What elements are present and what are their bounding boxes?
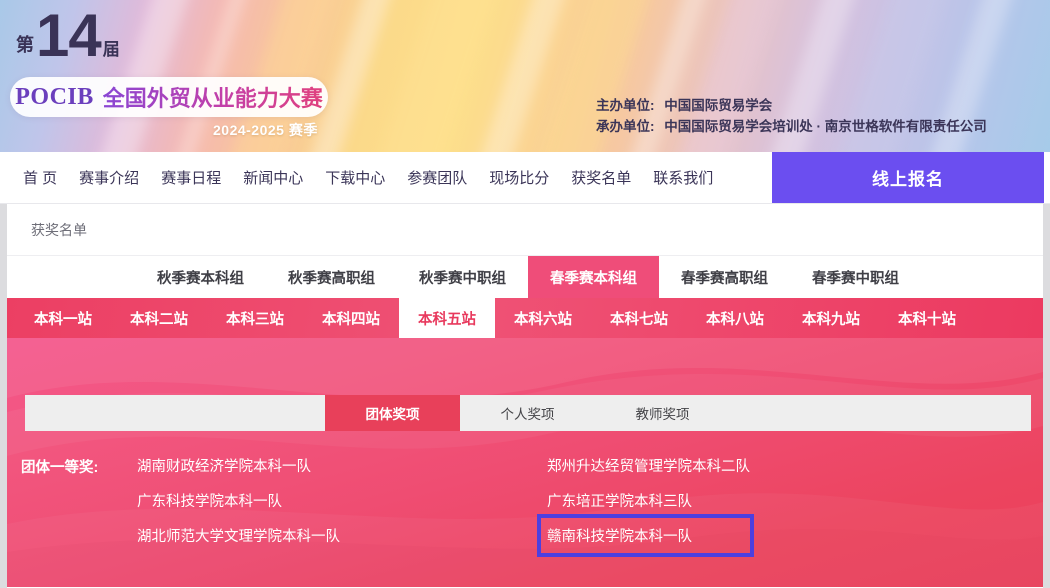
- winner-item-highlighted[interactable]: 赣南科技学院本科一队: [541, 518, 750, 553]
- coorganizer-label: 承办单位:: [596, 119, 655, 134]
- winner-item[interactable]: 郑州升达经贸管理学院本科二队: [547, 448, 750, 483]
- tab-spring-secondary[interactable]: 春季赛中职组: [790, 256, 921, 298]
- coorganizer-value: 中国国际贸易学会培训处 · 南京世格软件有限责任公司: [664, 119, 987, 134]
- award-category-tab-bar: 团体奖项 个人奖项 教师奖项: [25, 395, 1031, 431]
- organizer-row: 主办单位: 中国国际贸易学会: [596, 95, 987, 116]
- nav-item-news[interactable]: 新闻中心: [232, 167, 314, 188]
- competition-title: POCIB 全国外贸从业能力大赛: [10, 77, 328, 117]
- station-tab-5[interactable]: 本科五站: [399, 298, 495, 338]
- winner-item[interactable]: 广东培正学院本科三队: [547, 483, 750, 518]
- online-signup-button[interactable]: 线上报名: [772, 152, 1044, 203]
- title-chinese: 全国外贸从业能力大赛: [103, 81, 323, 113]
- tab-spring-undergrad[interactable]: 春季赛本科组: [528, 256, 659, 298]
- award-tab-individual[interactable]: 个人奖项: [460, 395, 595, 431]
- site-banner: 第 14 届 POCIB 全国外贸从业能力大赛 2024-2025 赛季 主办单…: [0, 0, 1050, 152]
- edition-prefix: 第: [16, 31, 34, 57]
- nav-item-winners[interactable]: 获奖名单: [560, 167, 642, 188]
- nav-item-teams[interactable]: 参赛团队: [396, 167, 478, 188]
- station-tab-7[interactable]: 本科七站: [591, 298, 687, 338]
- edition-ordinal: 第 14 届: [16, 6, 120, 66]
- host-label: 主办单位:: [596, 98, 655, 113]
- nav-item-about[interactable]: 赛事介绍: [68, 167, 150, 188]
- nav-item-downloads[interactable]: 下载中心: [314, 167, 396, 188]
- station-tab-10[interactable]: 本科十站: [879, 298, 975, 338]
- tab-autumn-secondary[interactable]: 秋季赛中职组: [397, 256, 528, 298]
- nav-item-list: 首 页 赛事介绍 赛事日程 新闻中心 下载中心 参赛团队 现场比分 获奖名单 联…: [0, 167, 724, 188]
- season-tab-bar: 秋季赛本科组 秋季赛高职组 秋季赛中职组 春季赛本科组 春季赛高职组 春季赛中职…: [7, 256, 1043, 298]
- tab-spring-vocational[interactable]: 春季赛高职组: [659, 256, 790, 298]
- host-value: 中国国际贸易学会: [664, 98, 772, 113]
- winner-item[interactable]: 湖北师范大学文理学院本科一队: [137, 518, 340, 553]
- nav-item-contact[interactable]: 联系我们: [642, 167, 724, 188]
- award-tab-teacher[interactable]: 教师奖项: [595, 395, 730, 431]
- edition-number: 14: [36, 6, 101, 66]
- station-tab-bar: 本科一站 本科二站 本科三站 本科四站 本科五站 本科六站 本科七站 本科八站 …: [7, 298, 1043, 338]
- winner-item[interactable]: 湖南财政经济学院本科一队: [137, 448, 340, 483]
- season-label: 2024-2025 赛季: [213, 120, 318, 140]
- breadcrumb-label: 获奖名单: [31, 220, 87, 240]
- award-level-label: 团体一等奖:: [21, 456, 98, 477]
- content-card: 获奖名单 秋季赛本科组 秋季赛高职组 秋季赛中职组 春季赛本科组 春季赛高职组 …: [7, 204, 1043, 588]
- station-tab-3[interactable]: 本科三站: [207, 298, 303, 338]
- breadcrumb: 获奖名单: [7, 204, 1043, 256]
- station-tab-9[interactable]: 本科九站: [783, 298, 879, 338]
- winner-column-left: 湖南财政经济学院本科一队 广东科技学院本科一队 湖北师范大学文理学院本科一队: [137, 448, 340, 553]
- award-tab-spacer: [25, 395, 325, 431]
- station-tab-8[interactable]: 本科八站: [687, 298, 783, 338]
- station-tab-1[interactable]: 本科一站: [15, 298, 111, 338]
- awards-panel: 团体奖项 个人奖项 教师奖项 团体一等奖: 湖南财政经济学院本科一队 广东科技学…: [7, 338, 1043, 587]
- tab-autumn-undergrad[interactable]: 秋季赛本科组: [135, 256, 266, 298]
- edition-suffix: 届: [103, 35, 120, 60]
- station-tab-2[interactable]: 本科二站: [111, 298, 207, 338]
- title-english: POCIB: [15, 84, 94, 111]
- nav-item-schedule[interactable]: 赛事日程: [150, 167, 232, 188]
- station-tab-4[interactable]: 本科四站: [303, 298, 399, 338]
- station-tab-6[interactable]: 本科六站: [495, 298, 591, 338]
- main-navigation: 首 页 赛事介绍 赛事日程 新闻中心 下载中心 参赛团队 现场比分 获奖名单 联…: [0, 152, 1050, 204]
- tab-autumn-vocational[interactable]: 秋季赛高职组: [266, 256, 397, 298]
- organizer-block: 主办单位: 中国国际贸易学会 承办单位: 中国国际贸易学会培训处 · 南京世格软…: [596, 95, 987, 137]
- organizer-row: 承办单位: 中国国际贸易学会培训处 · 南京世格软件有限责任公司: [596, 116, 987, 137]
- winner-item[interactable]: 广东科技学院本科一队: [137, 483, 340, 518]
- nav-item-scores[interactable]: 现场比分: [478, 167, 560, 188]
- page-body: 获奖名单 秋季赛本科组 秋季赛高职组 秋季赛中职组 春季赛本科组 春季赛高职组 …: [0, 204, 1050, 588]
- nav-item-home[interactable]: 首 页: [12, 167, 68, 188]
- award-tab-team[interactable]: 团体奖项: [325, 395, 460, 431]
- winner-column-right: 郑州升达经贸管理学院本科二队 广东培正学院本科三队 赣南科技学院本科一队: [547, 448, 750, 553]
